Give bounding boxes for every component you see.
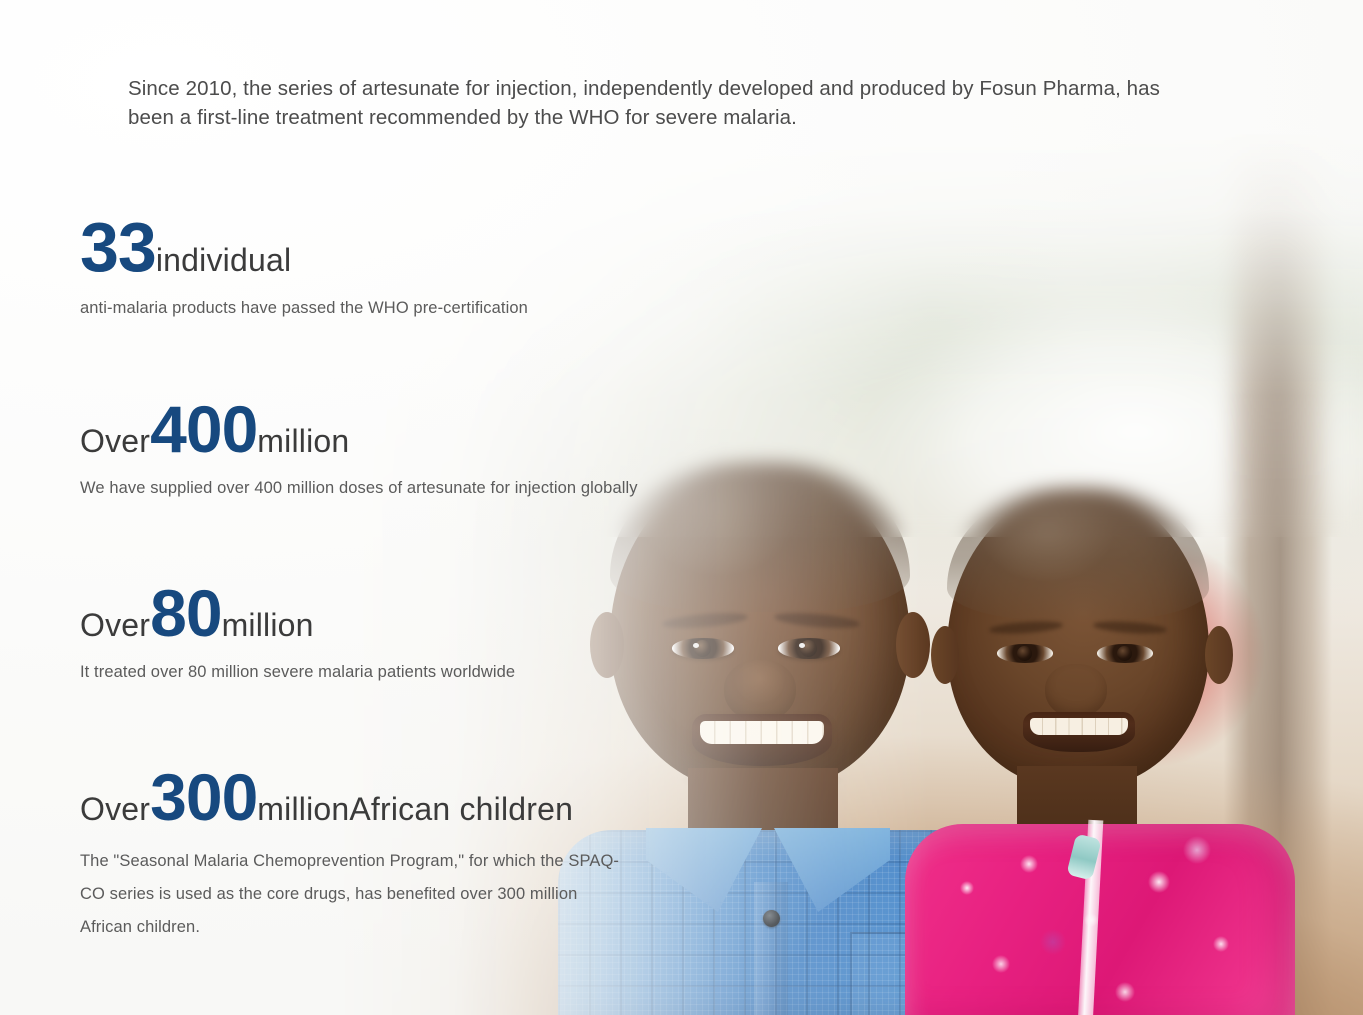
stat-headline: Over 400 million: [80, 396, 638, 462]
boy-mouth: [692, 714, 832, 766]
girl-figure: [905, 488, 1295, 1015]
stat-block-80-million: Over 80 million It treated over 80 milli…: [80, 580, 515, 684]
stat-number: 300: [150, 764, 257, 830]
stat-block-300-million: Over 300 million African children The "S…: [80, 764, 620, 944]
stat-prefix: Over: [80, 793, 150, 825]
girl-hair: [947, 488, 1209, 620]
stat-extra: African children: [349, 793, 573, 825]
stat-description: The "Seasonal Malaria Chemoprevention Pr…: [80, 845, 620, 944]
girl-ear-left: [931, 626, 959, 684]
girl-pupil-left: [1017, 646, 1032, 661]
stat-number: 33: [80, 212, 156, 282]
boy-hair: [610, 462, 910, 612]
boy-nose: [724, 660, 796, 722]
stat-headline: 33 individual: [80, 212, 528, 282]
stat-description: We have supplied over 400 million doses …: [80, 477, 638, 500]
boy-teeth: [700, 721, 824, 744]
stat-suffix: million: [257, 793, 349, 825]
stat-description: anti-malaria products have passed the WH…: [80, 297, 528, 320]
boy-shirt-button: [763, 910, 780, 927]
stat-description: It treated over 80 million severe malari…: [80, 661, 515, 684]
girl-teeth: [1030, 718, 1128, 735]
boy-eye-left: [672, 638, 734, 659]
boy-shirt-placket: [754, 882, 788, 1015]
stat-prefix: Over: [80, 609, 150, 641]
girl-nose: [1045, 664, 1107, 718]
boy-ear-left: [590, 612, 624, 678]
stat-prefix: Over: [80, 425, 150, 457]
stat-suffix: individual: [156, 244, 291, 276]
girl-pupil-right: [1117, 646, 1132, 661]
stat-headline: Over 80 million: [80, 580, 515, 646]
girl-mouth: [1023, 712, 1135, 752]
stat-number: 400: [150, 396, 257, 462]
infographic-page: Since 2010, the series of artesunate for…: [0, 0, 1363, 1015]
intro-paragraph: Since 2010, the series of artesunate for…: [128, 74, 1198, 132]
boy-eye-right: [778, 638, 840, 659]
stat-block-33: 33 individual anti-malaria products have…: [80, 212, 528, 320]
stat-suffix: million: [222, 609, 314, 641]
stat-suffix: million: [257, 425, 349, 457]
stat-headline: Over 300 million African children: [80, 764, 620, 830]
girl-eye-left: [997, 644, 1053, 663]
stat-number: 80: [150, 580, 221, 646]
girl-ear-right: [1205, 626, 1233, 684]
stat-block-400-million: Over 400 million We have supplied over 4…: [80, 396, 638, 500]
girl-eye-right: [1097, 644, 1153, 663]
